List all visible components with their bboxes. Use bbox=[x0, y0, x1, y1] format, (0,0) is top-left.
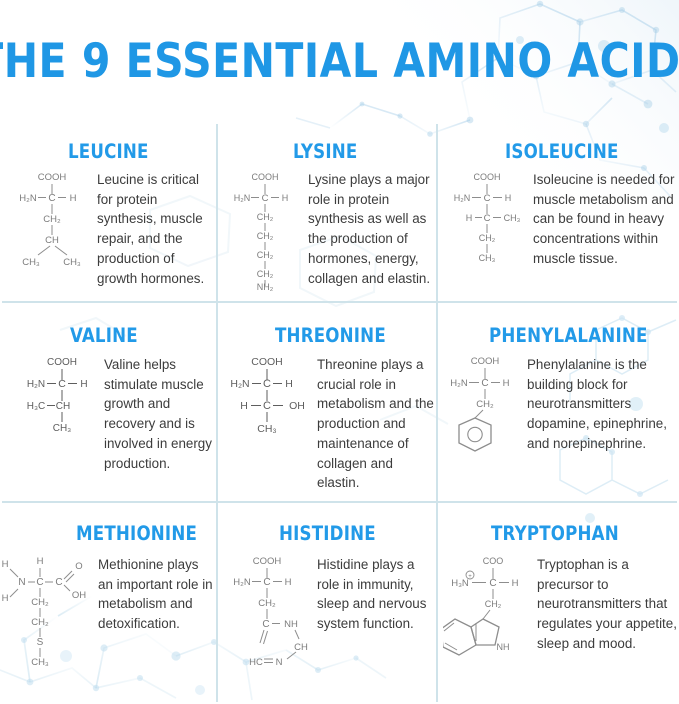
amino-acid-card-lysine: LYSINE COOH H₂N C H CH₂ CH₂ bbox=[217, 122, 437, 302]
svg-text:O: O bbox=[75, 561, 82, 572]
leucine-structure: COOH H₂N C H CH₂ CH CH₃ C bbox=[14, 169, 92, 274]
svg-text:CH₂: CH₂ bbox=[31, 617, 49, 628]
amino-acid-description-leucine: Leucine is critical for protein synthesi… bbox=[97, 170, 217, 288]
infographic-page: THE 9 ESSENTIAL AMINO ACIDS LEUCINE COOH… bbox=[0, 0, 679, 704]
amino-acid-card-methionine: METHIONINE H H N H C bbox=[0, 502, 217, 704]
svg-text:CH₂: CH₂ bbox=[257, 212, 274, 222]
svg-text:+: + bbox=[468, 574, 472, 580]
svg-text:H₂N: H₂N bbox=[234, 193, 251, 203]
svg-text:H: H bbox=[503, 378, 510, 389]
svg-text:CH₂: CH₂ bbox=[479, 233, 496, 243]
svg-text:CH: CH bbox=[294, 642, 308, 653]
svg-text:H: H bbox=[70, 193, 77, 204]
histidine-structure: COOH H₂N C H CH₂ C NH bbox=[229, 553, 311, 676]
grid-divider-horizontal-top bbox=[2, 301, 677, 303]
svg-text:H: H bbox=[282, 193, 289, 203]
svg-text:CH₂: CH₂ bbox=[476, 399, 494, 410]
svg-text:N: N bbox=[276, 657, 283, 668]
svg-text:CH₃: CH₃ bbox=[31, 657, 49, 668]
svg-text:CH₃: CH₃ bbox=[22, 257, 40, 268]
svg-text:H₃C: H₃C bbox=[27, 401, 46, 412]
svg-text:H: H bbox=[240, 400, 248, 412]
amino-acid-name-lysine: LYSINE bbox=[293, 140, 430, 163]
svg-text:COOH: COOH bbox=[474, 172, 501, 182]
svg-text:COOH: COOH bbox=[251, 356, 283, 368]
amino-acid-description-threonine: Threonine plays a crucial role in metabo… bbox=[317, 355, 437, 493]
svg-text:H: H bbox=[505, 193, 512, 203]
svg-text:COOH: COOH bbox=[471, 356, 500, 367]
amino-acid-description-valine: Valine helps stimulate muscle growth and… bbox=[104, 355, 217, 473]
svg-text:H₂N: H₂N bbox=[27, 379, 45, 390]
phenylalanine-structure: COOH H₂N C H CH₂ bbox=[445, 353, 521, 462]
amino-acid-card-threonine: THREONINE COOH H₂N C H H C bbox=[217, 302, 437, 502]
amino-acid-name-phenylalanine: PHENYLALANINE bbox=[489, 324, 670, 347]
grid-divider-vertical-right bbox=[436, 124, 438, 702]
svg-text:OH: OH bbox=[72, 590, 86, 601]
svg-text:COOH: COOH bbox=[38, 172, 67, 183]
svg-text:C: C bbox=[48, 193, 55, 204]
amino-acid-name-isoleucine: ISOLEUCINE bbox=[505, 140, 670, 163]
amino-acid-name-histidine: HISTIDINE bbox=[279, 522, 429, 545]
title-container: THE 9 ESSENTIAL AMINO ACIDS bbox=[0, 0, 679, 122]
grid-divider-horizontal-bottom bbox=[2, 501, 677, 503]
svg-text:CH₂: CH₂ bbox=[258, 598, 276, 609]
svg-text:C: C bbox=[263, 400, 271, 412]
svg-text:CH: CH bbox=[45, 235, 59, 246]
amino-acid-description-lysine: Lysine plays a major role in protein syn… bbox=[308, 170, 437, 288]
svg-text:H₂N: H₂N bbox=[450, 378, 468, 389]
svg-text:CH₃: CH₃ bbox=[257, 423, 276, 435]
lysine-structure: COOH H₂N C H CH₂ CH₂ CH₂ bbox=[229, 169, 301, 296]
svg-text:C: C bbox=[484, 193, 491, 204]
page-title: THE 9 ESSENTIAL AMINO ACIDS bbox=[0, 38, 679, 85]
amino-acid-description-isoleucine: Isoleucine is needed for muscle metaboli… bbox=[533, 170, 675, 269]
svg-text:COOH: COOH bbox=[47, 357, 77, 368]
svg-text:H: H bbox=[80, 379, 87, 390]
svg-text:CH₃: CH₃ bbox=[63, 257, 81, 268]
amino-acid-description-methionine: Methionine plays an important role in me… bbox=[98, 555, 217, 634]
amino-acid-card-valine: VALINE COOH H₂N C H H₃C CH bbox=[0, 302, 217, 502]
svg-text:CH₂: CH₂ bbox=[43, 214, 61, 225]
svg-text:H: H bbox=[285, 577, 292, 588]
amino-acid-name-threonine: THREONINE bbox=[275, 324, 429, 347]
amino-acid-name-leucine: LEUCINE bbox=[68, 140, 210, 163]
svg-text:C: C bbox=[489, 578, 496, 589]
svg-text:CH₂: CH₂ bbox=[31, 597, 49, 608]
methionine-structure: H H N H C C bbox=[0, 553, 90, 676]
svg-text:H₂N: H₂N bbox=[454, 193, 471, 203]
svg-text:H₃N: H₃N bbox=[451, 578, 469, 589]
svg-text:OH: OH bbox=[289, 400, 305, 412]
valine-structure: COOH H₂N C H H₃C CH CH₃ bbox=[22, 353, 100, 442]
amino-acid-grid: LEUCINE COOH H₂N C H CH₂ CH bbox=[0, 122, 679, 704]
amino-acid-card-phenylalanine: PHENYLALANINE COOH H₂N C H CH₂ bbox=[437, 302, 679, 502]
svg-text:H₂N: H₂N bbox=[19, 193, 37, 204]
tryptophan-structure: COO H₃N + C H CH₂ NH bbox=[443, 553, 531, 676]
isoleucine-structure: COOH H₂N C H H C CH₃ CH₂ bbox=[447, 169, 527, 278]
svg-text:CH₃: CH₃ bbox=[504, 213, 521, 223]
svg-text:C: C bbox=[262, 619, 269, 630]
svg-text:CH₃: CH₃ bbox=[53, 423, 72, 434]
svg-text:NH: NH bbox=[497, 642, 510, 652]
amino-acid-name-tryptophan: TRYPTOPHAN bbox=[491, 522, 670, 545]
svg-text:COO: COO bbox=[483, 556, 504, 566]
svg-text:C: C bbox=[58, 378, 66, 390]
svg-text:H: H bbox=[466, 213, 473, 223]
svg-text:C: C bbox=[55, 577, 62, 588]
grid-divider-vertical-left bbox=[216, 124, 218, 702]
svg-text:CH₂: CH₂ bbox=[257, 269, 274, 279]
svg-text:C: C bbox=[481, 378, 488, 389]
svg-text:CH₃: CH₃ bbox=[479, 253, 496, 263]
threonine-structure: COOH H₂N C H H C OH CH₃ bbox=[227, 353, 313, 442]
svg-text:S: S bbox=[37, 637, 44, 648]
svg-text:HC: HC bbox=[249, 657, 263, 668]
svg-text:COOH: COOH bbox=[252, 172, 279, 182]
svg-text:NH: NH bbox=[284, 619, 298, 630]
amino-acid-description-histidine: Histidine plays a role in immunity, slee… bbox=[317, 555, 437, 634]
amino-acid-card-isoleucine: ISOLEUCINE COOH H₂N C H H C bbox=[437, 122, 679, 302]
svg-text:CH₂: CH₂ bbox=[257, 250, 274, 260]
svg-text:H: H bbox=[2, 559, 9, 570]
svg-text:C: C bbox=[263, 577, 270, 588]
svg-text:H₂N: H₂N bbox=[230, 378, 249, 390]
amino-acid-card-tryptophan: TRYPTOPHAN COO H₃N + C H CH₂ bbox=[437, 502, 679, 704]
amino-acid-name-valine: VALINE bbox=[70, 324, 210, 347]
svg-text:CH₂: CH₂ bbox=[257, 231, 274, 241]
svg-text:H: H bbox=[285, 378, 293, 390]
svg-text:C: C bbox=[484, 213, 491, 224]
svg-text:CH₂: CH₂ bbox=[485, 599, 502, 609]
amino-acid-description-phenylalanine: Phenylalanine is the building block for … bbox=[527, 355, 679, 454]
svg-text:NH₂: NH₂ bbox=[257, 282, 274, 291]
svg-text:H: H bbox=[512, 578, 519, 589]
amino-acid-description-tryptophan: Tryptophan is a precursor to neurotransm… bbox=[537, 555, 679, 654]
svg-text:CH: CH bbox=[56, 401, 70, 412]
svg-text:H₂N: H₂N bbox=[233, 577, 251, 588]
svg-text:H: H bbox=[2, 593, 9, 604]
svg-text:H: H bbox=[37, 556, 44, 567]
svg-text:C: C bbox=[36, 577, 43, 588]
amino-acid-name-methionine: METHIONINE bbox=[76, 522, 210, 545]
svg-text:C: C bbox=[262, 193, 269, 204]
svg-text:N: N bbox=[18, 577, 25, 588]
amino-acid-card-leucine: LEUCINE COOH H₂N C H CH₂ CH bbox=[0, 122, 217, 302]
svg-text:C: C bbox=[263, 378, 271, 390]
amino-acid-card-histidine: HISTIDINE COOH H₂N C H CH₂ bbox=[217, 502, 437, 704]
svg-text:COOH: COOH bbox=[253, 556, 282, 567]
